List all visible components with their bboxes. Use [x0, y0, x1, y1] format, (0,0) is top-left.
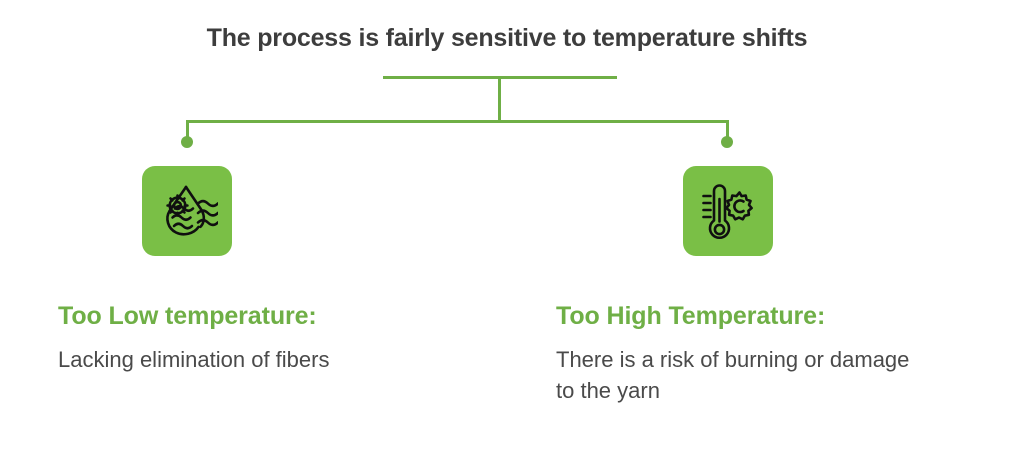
- page-title: The process is fairly sensitive to tempe…: [0, 24, 1014, 53]
- branch-heading-too-low: Too Low temperature:: [58, 300, 478, 333]
- branch-column-too-low: Too Low temperature: Lacking elimination…: [58, 300, 478, 375]
- node-dot-left: [181, 136, 193, 148]
- node-dot-right: [721, 136, 733, 148]
- connector-crossbar: [186, 120, 729, 123]
- branch-column-too-high: Too High Temperature: There is a risk of…: [556, 300, 976, 407]
- branch-body-too-high: There is a risk of burning or damage to …: [556, 344, 916, 408]
- icon-tile-too-high-temperature[interactable]: [683, 166, 773, 256]
- water-droplet-gear-icon: [156, 181, 218, 241]
- branch-body-too-low: Lacking elimination of fibers: [58, 344, 388, 376]
- thermometer-gear-icon: [698, 180, 758, 242]
- icon-tile-too-low-temperature[interactable]: [142, 166, 232, 256]
- connector-vertical-stem: [498, 78, 501, 123]
- branch-heading-too-high: Too High Temperature:: [556, 300, 976, 333]
- diagram-slide: The process is fairly sensitive to tempe…: [0, 0, 1014, 476]
